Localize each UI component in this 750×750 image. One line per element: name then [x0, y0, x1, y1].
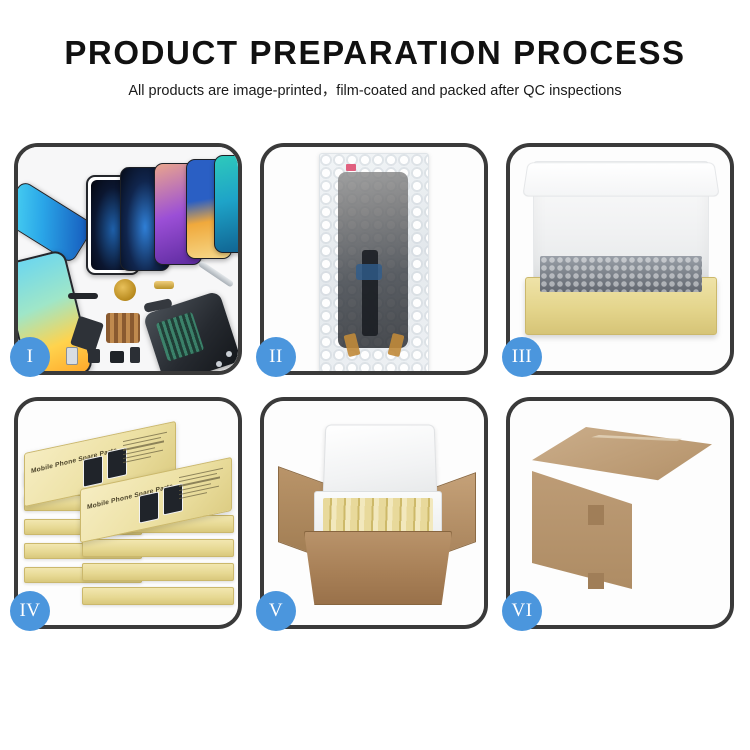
sealed-carton [530, 427, 716, 603]
carton-handle-notch-top [588, 505, 604, 525]
bubble-wrapped-contents [540, 256, 702, 292]
screw-part-2 [226, 351, 232, 357]
styrofoam-lid [323, 425, 438, 500]
box-spec-lines-rear [123, 432, 167, 471]
process-step-5: V [260, 397, 488, 629]
step-badge-2: II [256, 337, 296, 377]
phone-screen-teal [214, 155, 238, 253]
stack-box-r2 [82, 539, 234, 557]
speaker-part [114, 279, 136, 301]
small-component-3 [130, 347, 140, 363]
box-label-front: Mobile Phone Spare Parts [87, 483, 173, 511]
step-5-image [264, 401, 484, 625]
step-badge-1: I [10, 337, 50, 377]
box-label-rear: Mobile Phone Spare Parts [31, 447, 117, 475]
stack-box-r4 [82, 587, 234, 605]
gold-connector-part [154, 281, 174, 289]
step-2-image [264, 147, 484, 371]
process-step-grid: I II III [14, 143, 736, 629]
small-component-1 [88, 349, 100, 363]
chip-part [106, 313, 140, 343]
step-1-image [18, 147, 238, 371]
open-tray-box [525, 161, 715, 341]
flex-cable-part-2 [143, 298, 172, 313]
sim-tray-part [66, 347, 78, 365]
page-title: PRODUCT PREPARATION PROCESS [0, 34, 750, 72]
step-badge-5: V [256, 591, 296, 631]
carton-front-panel [304, 531, 452, 605]
kraft-tray-base [525, 277, 717, 335]
wrapped-flex-cable [362, 250, 378, 336]
box-spec-lines-front [179, 468, 223, 507]
page-header: PRODUCT PREPARATION PROCESS All products… [0, 0, 750, 101]
page-subtitle: All products are image-printed，film-coat… [0, 81, 750, 101]
screw-part-1 [216, 361, 222, 367]
stack-box-r3 [82, 563, 234, 581]
step-3-image [510, 147, 730, 371]
box-stack: Mobile Phone Spare Parts Mobile Phone Sp… [24, 423, 236, 619]
step-6-image [510, 401, 730, 625]
small-component-2 [110, 351, 124, 363]
process-step-2: II [260, 143, 488, 375]
step-4-image: Mobile Phone Spare Parts Mobile Phone Sp… [18, 401, 238, 625]
step-badge-4: IV [10, 591, 50, 631]
carton-handle-notch-bottom [588, 573, 604, 589]
bubble-wrap-bag [319, 153, 429, 371]
open-carton [282, 419, 470, 615]
box-art-screen-1 [83, 455, 103, 487]
foam-lid-flap [522, 162, 719, 196]
process-step-3: III [506, 143, 734, 375]
pink-label-sticker [346, 164, 356, 171]
spare-parts-cluster [66, 277, 206, 371]
step-badge-6: VI [502, 591, 542, 631]
process-step-6: VI [506, 397, 734, 629]
wrapped-connector [356, 264, 382, 280]
process-step-1: I [14, 143, 242, 375]
step-badge-3: III [502, 337, 542, 377]
earpiece-part [68, 293, 98, 299]
box-art-screen-3 [139, 491, 159, 523]
packed-yellow-boxes [323, 498, 433, 532]
process-step-4: Mobile Phone Spare Parts Mobile Phone Sp… [14, 397, 242, 629]
